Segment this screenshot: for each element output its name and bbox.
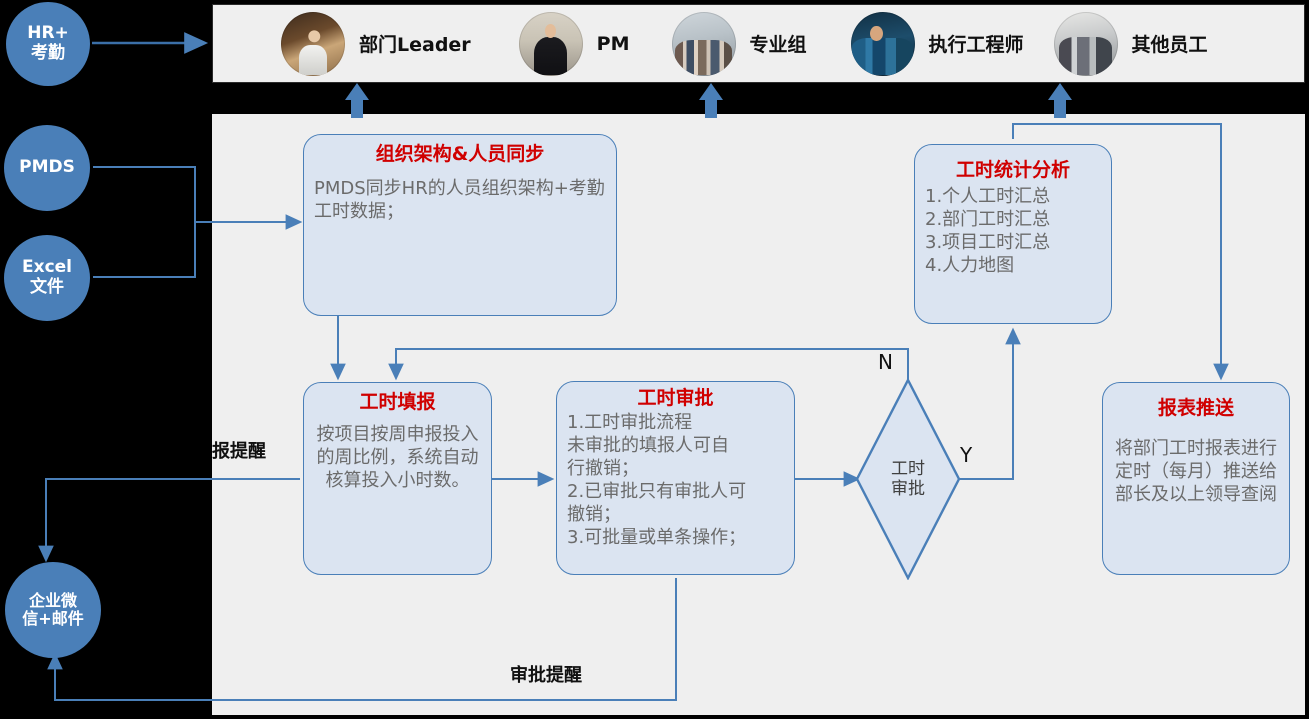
box-body: 按项目按周申报投入的周比例，系统自动核算投入小时数。 xyxy=(314,423,481,492)
role-label: 部门Leader xyxy=(359,30,471,57)
source-excel-line1: Excel xyxy=(22,258,72,278)
arrow-head-up-2 xyxy=(699,83,723,118)
diagram-canvas: 部门Leader PM 专业组 执行工程师 其他员工 xyxy=(0,0,1309,719)
roles-header-bar: 部门Leader PM 专业组 执行工程师 其他员工 xyxy=(212,4,1305,83)
role-label: 专业组 xyxy=(750,30,807,57)
decision-line2: 审批 xyxy=(891,479,925,499)
process-box-org-sync[interactable]: 组织架构&人员同步 PMDS同步HR的人员组织架构+考勤工时数据； xyxy=(303,134,617,316)
box-line: 1.工时审批流程 xyxy=(567,411,784,434)
source-hr-line1: HR+ xyxy=(27,24,69,44)
source-wecom-line2: 信+邮件 xyxy=(22,610,83,628)
arrow-head-up-1 xyxy=(345,83,369,118)
flow-label-fill-reminder: 报提醒 xyxy=(212,437,266,463)
source-node-hr-label: HR+ 考勤 xyxy=(27,24,69,63)
role-pm: PM xyxy=(519,12,630,76)
avatar-professional-group-icon xyxy=(672,12,736,76)
box-line: 1.个人工时汇总 xyxy=(925,185,1101,208)
source-node-wecom-label: 企业微 信+邮件 xyxy=(22,592,83,629)
edge-sources-merge xyxy=(93,167,195,277)
decision-line1: 工时 xyxy=(891,459,925,479)
box-line: 未审批的填报人可自 xyxy=(567,434,784,457)
process-box-timesheet-fill[interactable]: 工时填报 按项目按周申报投入的周比例，系统自动核算投入小时数。 xyxy=(303,382,492,575)
source-node-hr[interactable]: HR+ 考勤 xyxy=(6,2,90,86)
box-title: 工时审批 xyxy=(567,387,784,411)
source-wecom-line1: 企业微 xyxy=(22,592,83,610)
box-title: 工时填报 xyxy=(314,391,481,415)
box-body-lines: 1.个人工时汇总 2.部门工时汇总 3.项目工时汇总 4.人力地图 xyxy=(925,185,1101,277)
process-box-stats[interactable]: 工时统计分析 1.个人工时汇总 2.部门工时汇总 3.项目工时汇总 4.人力地图 xyxy=(914,144,1112,324)
avatar-execution-engineer-icon xyxy=(851,12,915,76)
role-department-leader: 部门Leader xyxy=(281,12,471,76)
box-line: 4.人力地图 xyxy=(925,254,1101,277)
branch-label-yes: Y xyxy=(960,443,972,467)
avatar-pm-icon xyxy=(519,12,583,76)
role-other-employees: 其他员工 xyxy=(1054,12,1208,76)
process-box-report-push[interactable]: 报表推送 将部门工时报表进行定时（每月）推送给部长及以上领导查阅 xyxy=(1102,382,1290,575)
source-node-excel[interactable]: Excel 文件 xyxy=(4,235,90,321)
decision-label: 工时 审批 xyxy=(855,378,961,580)
box-line: 行撤销； xyxy=(567,457,784,480)
avatar-department-leader-icon xyxy=(281,12,345,76)
flow-label-approve-reminder: 审批提醒 xyxy=(510,661,582,687)
box-line: 3.项目工时汇总 xyxy=(925,231,1101,254)
process-box-timesheet-approve[interactable]: 工时审批 1.工时审批流程 未审批的填报人可自 行撤销； 2.已审批只有审批人可… xyxy=(556,381,795,575)
role-execution-engineer: 执行工程师 xyxy=(851,12,1024,76)
box-line: 2.部门工时汇总 xyxy=(925,208,1101,231)
box-body-lines: 1.工时审批流程 未审批的填报人可自 行撤销； 2.已审批只有审批人可 撤销； … xyxy=(567,411,784,549)
source-node-pmds[interactable]: PMDS xyxy=(4,125,90,211)
role-label: 执行工程师 xyxy=(929,30,1024,57)
source-node-wecom-mail[interactable]: 企业微 信+邮件 xyxy=(5,562,101,658)
box-line: 3.可批量或单条操作； xyxy=(567,526,784,549)
role-professional-group: 专业组 xyxy=(672,12,807,76)
source-hr-line2: 考勤 xyxy=(27,44,69,64)
decision-node-timesheet-approval[interactable]: 工时 审批 xyxy=(855,378,961,580)
source-excel-line2: 文件 xyxy=(22,278,72,298)
avatar-other-employees-icon xyxy=(1054,12,1118,76)
arrow-head-up-3 xyxy=(1048,83,1072,118)
box-title: 工时统计分析 xyxy=(925,159,1101,183)
box-title: 报表推送 xyxy=(1113,397,1279,421)
source-pmds-label: PMDS xyxy=(19,158,75,178)
box-body: 将部门工时报表进行定时（每月）推送给部长及以上领导查阅 xyxy=(1113,437,1279,506)
box-body: PMDS同步HR的人员组织架构+考勤工时数据； xyxy=(314,177,606,223)
box-line: 撤销； xyxy=(567,503,784,526)
role-label: PM xyxy=(597,33,630,55)
source-node-excel-label: Excel 文件 xyxy=(22,258,72,297)
role-label: 其他员工 xyxy=(1132,30,1208,57)
branch-label-no: N xyxy=(878,350,893,374)
box-title: 组织架构&人员同步 xyxy=(314,143,606,167)
box-line: 2.已审批只有审批人可 xyxy=(567,480,784,503)
